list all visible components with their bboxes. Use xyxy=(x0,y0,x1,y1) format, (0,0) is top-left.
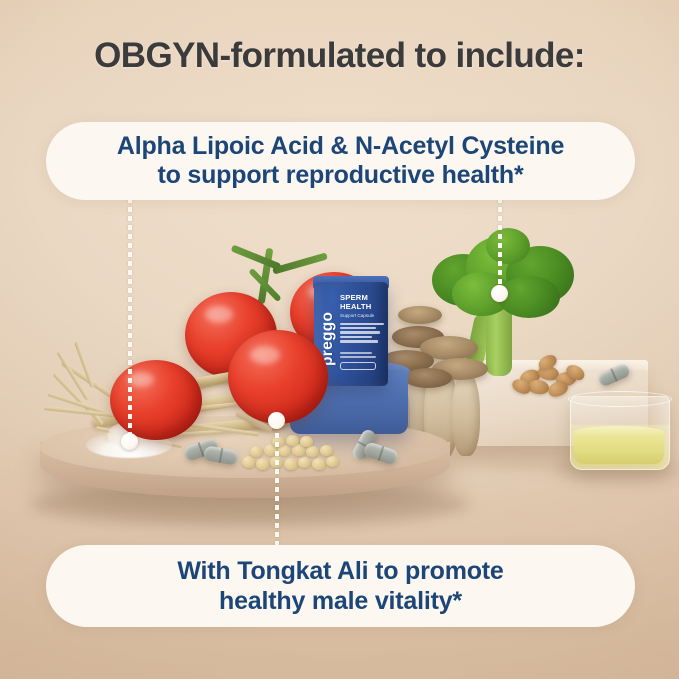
connector-dot-root xyxy=(268,412,285,429)
rootlet xyxy=(44,406,116,418)
broccoli-floret xyxy=(498,276,560,318)
page-title: OBGYN-formulated to include: xyxy=(0,36,679,76)
product-photo-scene: preggo SPERM HEALTH Support Capsule xyxy=(0,210,679,540)
oil-bowl-rim xyxy=(568,391,672,407)
connector-line-tongkat xyxy=(275,424,279,546)
label-footer-lines xyxy=(340,352,386,370)
connector-dot-powder xyxy=(121,433,138,450)
label-benefit-lines xyxy=(340,323,386,343)
callout-card-top: Alpha Lipoic Acid & N-Acetyl Cysteine to… xyxy=(46,122,635,200)
callout-card-bottom: With Tongkat Ali to promote healthy male… xyxy=(46,545,635,627)
callout-bottom-text: With Tongkat Ali to promote healthy male… xyxy=(177,556,503,616)
label-title-line2: HEALTH xyxy=(340,303,386,312)
callout-top-line1: Alpha Lipoic Acid & N-Acetyl Cysteine xyxy=(117,132,564,162)
seed-pile xyxy=(238,440,350,474)
mushroom-stem xyxy=(452,372,480,456)
connector-line-alpha-lipoic xyxy=(128,198,132,440)
tomato xyxy=(110,360,202,440)
product-label: SPERM HEALTH Support Capsule xyxy=(340,294,386,370)
promo-image: preggo SPERM HEALTH Support Capsule xyxy=(0,0,679,679)
tomato xyxy=(228,330,328,424)
callout-top-text: Alpha Lipoic Acid & N-Acetyl Cysteine to… xyxy=(117,132,564,191)
connector-line-nac xyxy=(498,198,502,294)
mushroom-cap xyxy=(404,368,452,388)
label-count-pill xyxy=(340,362,376,370)
connector-dot-broccoli xyxy=(491,285,508,302)
callout-top-line2: to support reproductive health* xyxy=(117,161,564,191)
callout-bottom-line2: healthy male vitality* xyxy=(177,586,503,616)
label-subtitle: Support Capsule xyxy=(340,313,386,318)
oil-surface xyxy=(574,426,664,438)
callout-bottom-line1: With Tongkat Ali to promote xyxy=(177,556,503,586)
mushroom-cap xyxy=(398,306,442,324)
broccoli-floret xyxy=(486,228,530,264)
